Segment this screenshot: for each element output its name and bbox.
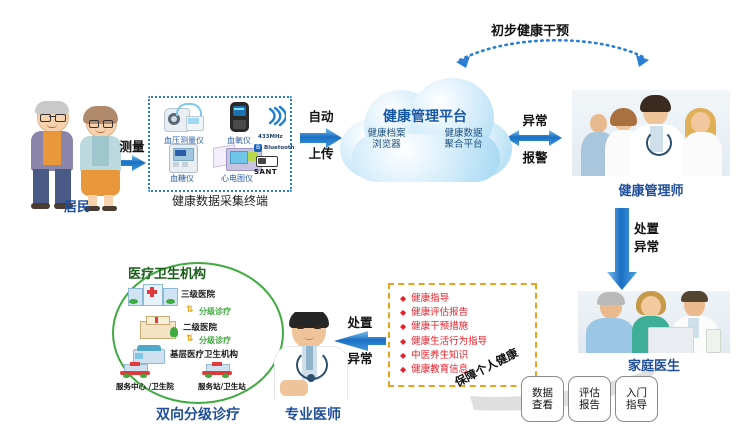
services-list: ◆健康指导 ◆健康评估报告 ◆健康干预措施 ◆健康生活行为指导 ◆中医养生知识 … (400, 292, 535, 377)
institution-level-label: 三级医院 (181, 288, 215, 300)
cloud-platform-title: 健康管理平台 (340, 106, 510, 126)
service-item: ◆健康干预措施 (400, 320, 535, 334)
leaf-label: 服务站/卫生站 (198, 381, 246, 392)
dispose-down-arrow-icon (607, 208, 637, 290)
bluetooth-badge: B Bluetooth (254, 144, 294, 152)
bidirectional-link-icon-2: ⇅ (186, 334, 194, 344)
leaf-label: 服务中心 /卫生院 (116, 381, 174, 392)
family-doctor-label: 家庭医生 (578, 355, 730, 374)
box-getting-started-guide[interactable]: 入门 指导 (615, 376, 658, 422)
alarm-arrow-label-top: 异常 (509, 114, 561, 128)
health-manager-label: 健康管理师 (572, 180, 730, 199)
upload-arrow-label-bottom: 上传 (296, 147, 346, 161)
primary-clinic-icon (131, 345, 165, 362)
device-blood-pressure-monitor: 血压测量仪 (156, 102, 212, 146)
family-doctor-photo (578, 291, 730, 353)
institution-level-tertiary: 三级医院 (128, 284, 215, 304)
upload-arrow-label-top: 自动 (296, 110, 346, 124)
diamond-bullet-icon: ◆ (400, 351, 406, 360)
device-glucometer: 血糖仪 (156, 144, 208, 184)
cloud-module-archive[interactable]: 健康档案 浏览器 (367, 128, 405, 150)
box-data-view[interactable]: 数据 查看 (521, 376, 564, 422)
sim-card-icon (256, 156, 278, 167)
institutions-bottom-label: 双向分级诊疗 (118, 404, 278, 424)
diamond-bullet-icon: ◆ (400, 365, 406, 374)
institution-level-primary: 基层医疗卫生机构 (131, 345, 238, 362)
device-terminal-box: 血压测量仪 血氧仪 血糖仪 (148, 96, 292, 192)
wireless-signal-icon (266, 104, 286, 132)
diagram-canvas: 居民 测量 血压测量仪 血氧仪 (0, 0, 750, 441)
health-manager-photo (572, 90, 730, 176)
device-terminal-caption: 健康数据采集终端 (140, 192, 300, 209)
diamond-bullet-icon: ◆ (400, 294, 406, 303)
sant-logo-icon: SANT (254, 168, 277, 176)
upload-arrow-icon (300, 128, 342, 148)
institution-level-secondary: 二级医院 (140, 316, 217, 337)
bidirectional-link-icon-1: ⇅ (186, 305, 194, 315)
diamond-bullet-icon: ◆ (400, 337, 406, 346)
dispose-down-label-bottom: 异常 (634, 240, 680, 254)
rf-433mhz-badge: 433MHz (258, 134, 283, 140)
device-label: 血糖仪 (156, 173, 208, 184)
box-assessment-report[interactable]: 评估 报告 (568, 376, 611, 422)
tertiary-hospital-icon (128, 284, 176, 304)
intervention-curve-label: 初步健康干预 (470, 20, 590, 39)
residents-label: 居民 (22, 196, 132, 215)
blood-pressure-monitor-icon (162, 102, 206, 134)
device-pulse-oximeter: 血氧仪 (216, 102, 262, 146)
diamond-bullet-icon: ◆ (400, 308, 406, 317)
dispose-down-label-top: 处置 (634, 222, 680, 236)
service-item: ◆健康指导 (400, 292, 535, 306)
intervention-curve-icon (456, 40, 649, 68)
elderly-man-figure (28, 103, 76, 207)
cloud-module-aggregation[interactable]: 健康数据 聚合平台 (444, 128, 482, 150)
secondary-hospital-icon (140, 316, 178, 337)
professional-doctor-label: 专业医师 (258, 404, 368, 424)
institution-level-label: 二级医院 (183, 321, 217, 333)
elderly-woman-figure (76, 107, 124, 207)
cloud-platform[interactable]: 健康管理平台 健康档案 浏览器 健康数据 聚合平台 (340, 78, 510, 186)
glucometer-icon (165, 144, 199, 172)
bluetooth-icon: B (254, 144, 262, 152)
service-item: ◆健康评估报告 (400, 306, 535, 320)
personal-health-boxes: 数据 查看 评估 报告 入门 指导 (521, 376, 658, 422)
diamond-bullet-icon: ◆ (400, 322, 406, 331)
institution-level-label: 基层医疗卫生机构 (170, 348, 238, 360)
alarm-arrow-label-bottom: 报警 (509, 151, 561, 165)
institutions-title: 医疗卫生机构 (128, 263, 238, 282)
professional-doctor-photo (262, 312, 362, 400)
alarm-arrow-icon (506, 130, 562, 146)
pulse-oximeter-icon (226, 102, 252, 134)
